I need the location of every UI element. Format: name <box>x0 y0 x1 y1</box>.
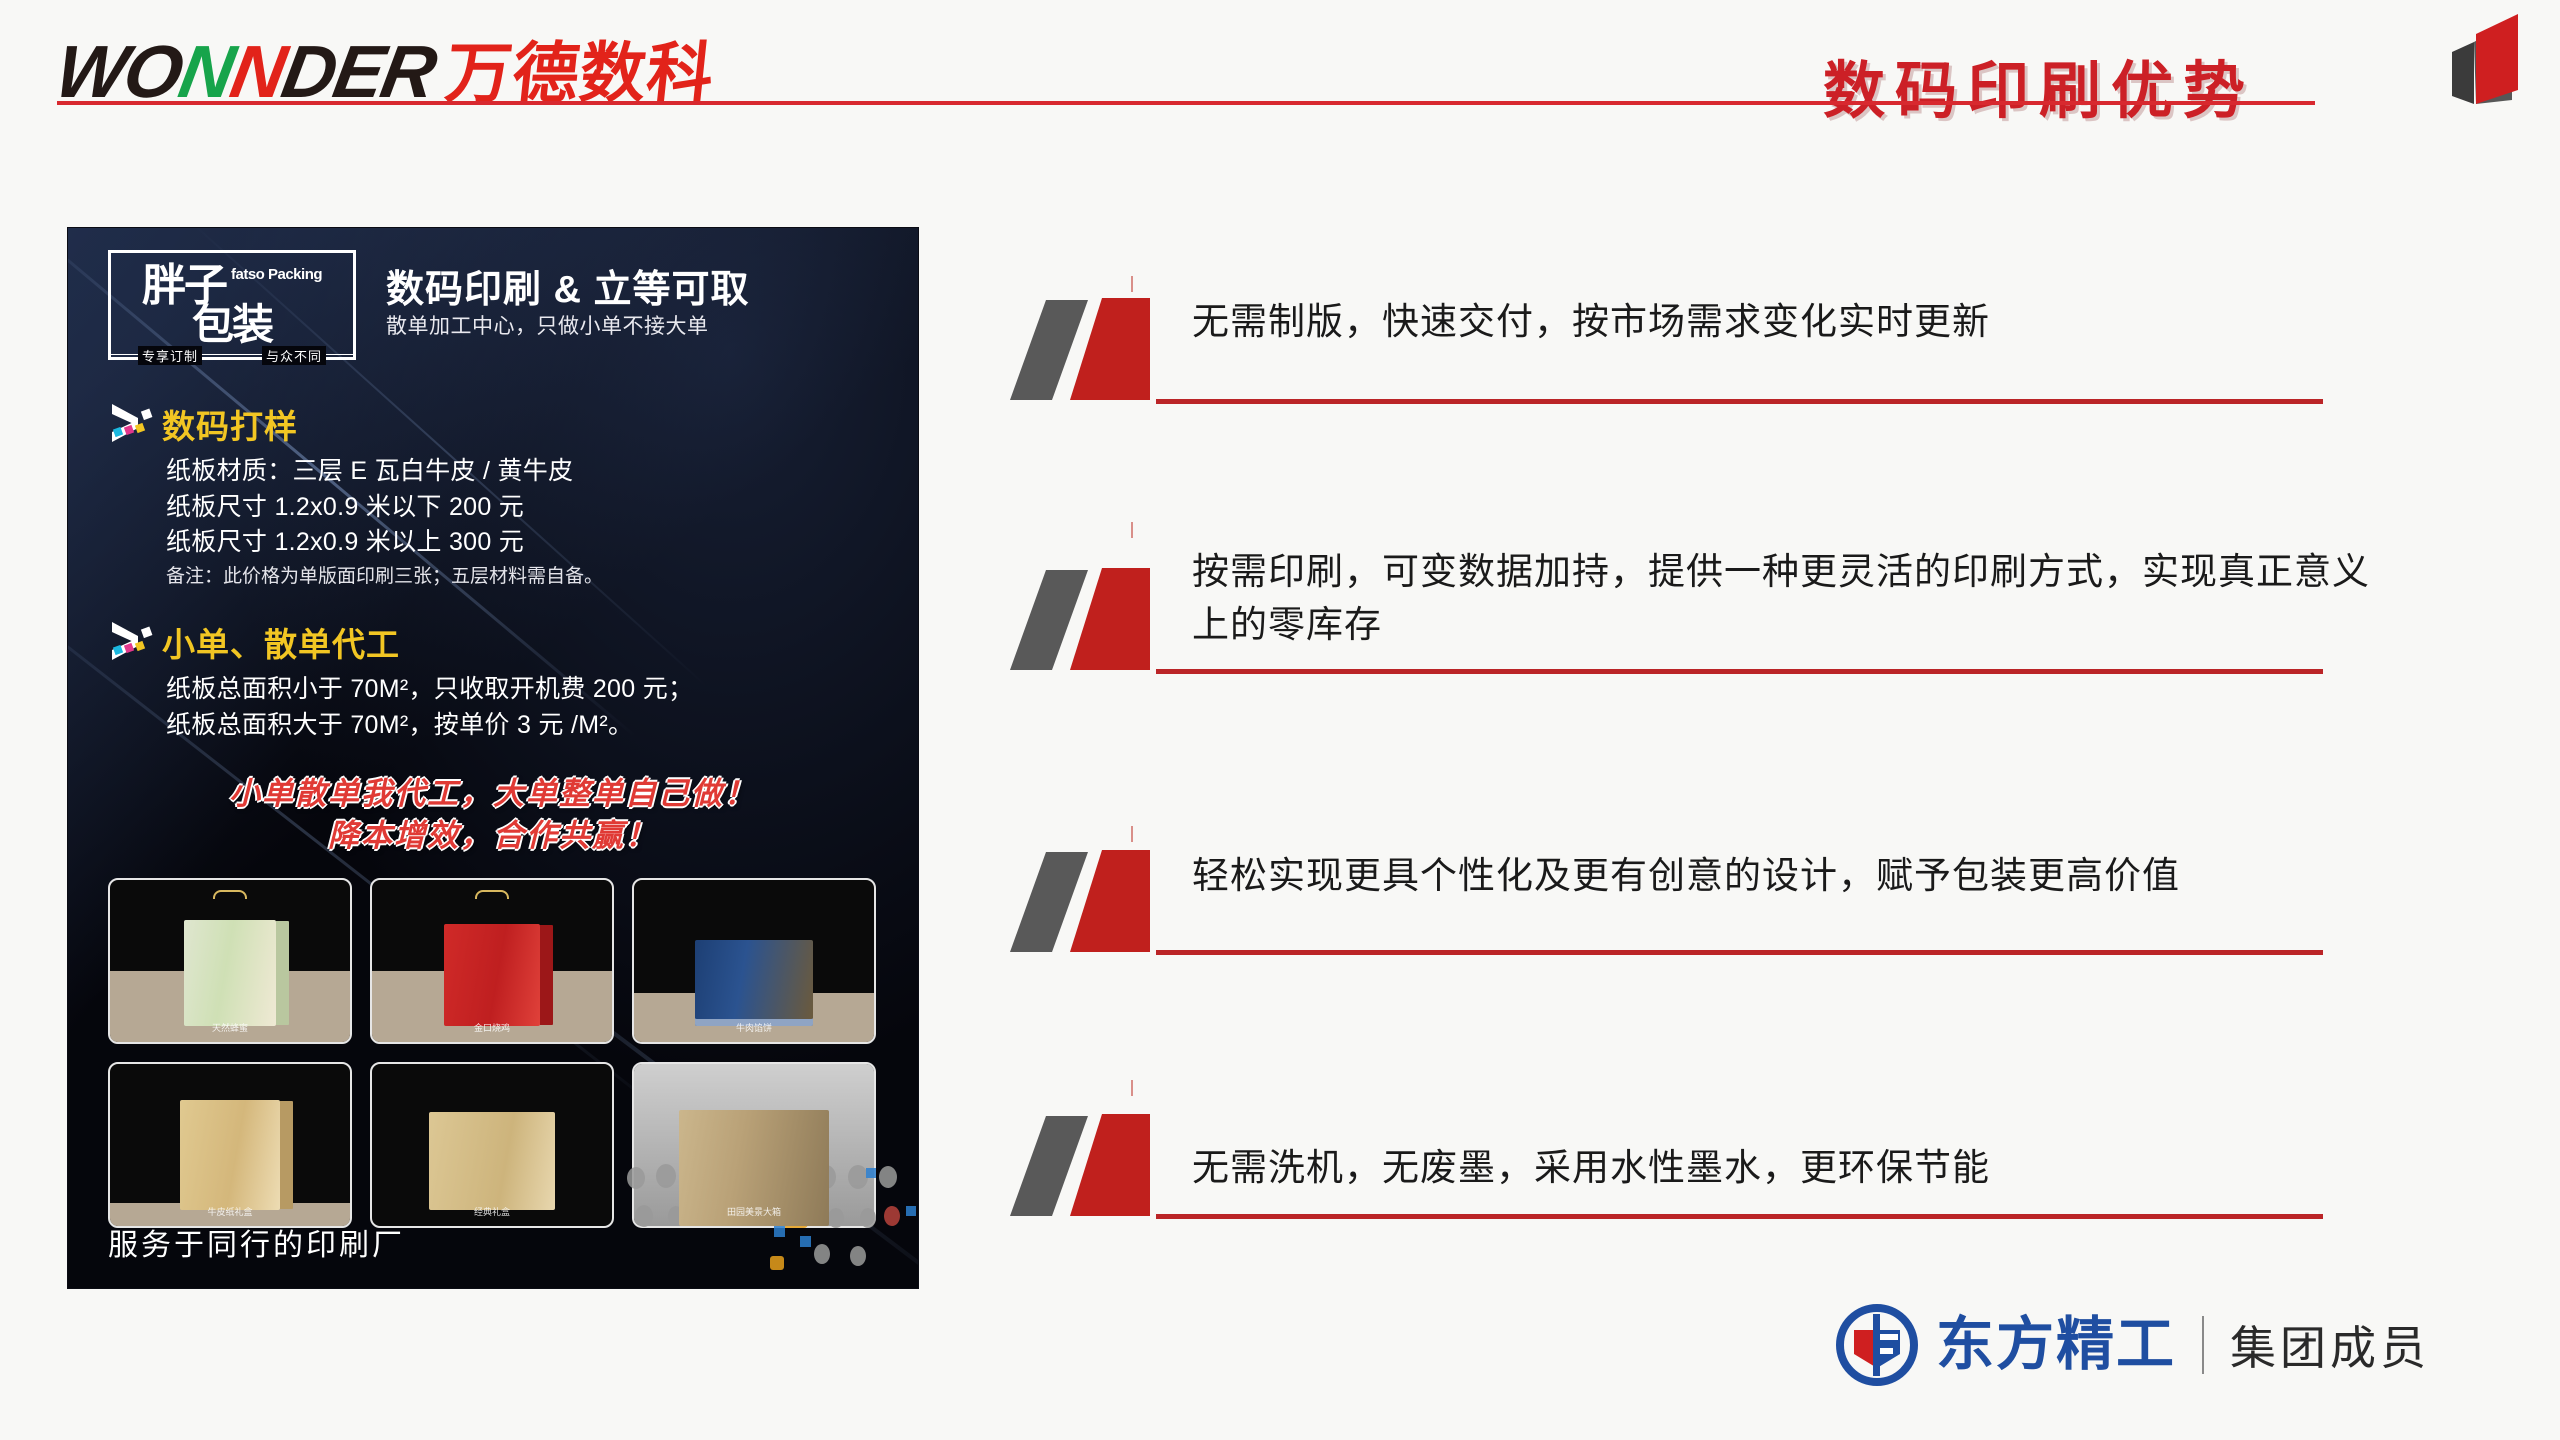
poster-slogan-line1: 小单散单我代工，大单整单自己做！ <box>68 773 918 815</box>
section-line: 纸板材质：三层 E 瓦白牛皮 / 黄牛皮 <box>166 454 898 490</box>
gallery-item: 金口烧鸡 <box>370 878 614 1044</box>
gallery-item: 天然蜂蜜 <box>108 878 352 1044</box>
fatso-logo-taglines: 专享订制 与众不同 <box>108 346 356 365</box>
bullet-underline <box>1156 399 2323 404</box>
bullet-tick-icon <box>1131 276 1133 292</box>
bullet-tick-icon <box>1131 522 1133 538</box>
double-parallelogram-marker-icon <box>1008 296 1178 408</box>
gallery-item-caption: 经典礼盒 <box>474 1205 510 1218</box>
bullet-underline <box>1156 950 2323 955</box>
poster-image: 胖子 fatso Packing 包装 专享订制 与众不同 数码印刷 & 立等可… <box>68 228 918 1288</box>
double-parallelogram-marker-icon <box>1008 1112 1178 1224</box>
gallery-item: 牛肉馅饼 <box>632 878 876 1044</box>
chevron-right-icon <box>108 620 162 664</box>
bullet-text: 轻松实现更具个性化及更有创意的设计，赋予包装更高价值 <box>1192 850 2372 903</box>
poster-headline: 数码印刷 & 立等可取 <box>386 258 886 313</box>
gallery-item-caption: 天然蜂蜜 <box>212 1021 248 1034</box>
poster-product-gallery: 天然蜂蜜 金口烧鸡 牛肉馅饼 牛皮纸礼盒 经典礼盒 <box>108 878 878 1228</box>
poster-section-digital-proofing: 数码打样 纸板材质：三层 E 瓦白牛皮 / 黄牛皮 纸板尺寸 1.2x0.9 米… <box>108 400 898 591</box>
footer-divider <box>2202 1316 2204 1374</box>
bullet-underline <box>1156 1214 2323 1219</box>
section-line: 纸板总面积大于 70M²，按单价 3 元 /M²。 <box>166 708 898 744</box>
fatso-logo-en: fatso Packing <box>231 267 322 282</box>
section-line: 纸板总面积小于 70M²，只收取开机费 200 元； <box>166 672 898 708</box>
double-parallelogram-marker-icon <box>1008 848 1178 960</box>
footer-company-name: 东方精工 <box>1936 1316 2176 1374</box>
fatso-packing-logo: 胖子 fatso Packing 包装 <box>108 250 356 360</box>
brand-logo: WONNDER 万德数科 <box>57 38 714 106</box>
gallery-item: 牛皮纸礼盒 <box>108 1062 352 1228</box>
slide-root: WONNDER 万德数科 数码印刷优势 胖子 fatso Packing 包装 … <box>0 0 2560 1440</box>
section-line: 纸板尺寸 1.2x0.9 米以下 200 元 <box>166 490 898 526</box>
gallery-item-caption: 牛皮纸礼盒 <box>207 1205 252 1218</box>
book-pages-icon <box>2430 8 2534 108</box>
gallery-item: 经典礼盒 <box>370 1062 614 1228</box>
brand-wordmark-en: WONNDER <box>51 38 440 106</box>
double-parallelogram-marker-icon <box>1008 566 1178 678</box>
gallery-item-caption: 田园美景大箱 <box>727 1205 781 1218</box>
section-line: 纸板尺寸 1.2x0.9 米以上 300 元 <box>166 525 898 561</box>
header-divider <box>57 101 2315 105</box>
section-title: 小单、散单代工 <box>162 618 400 666</box>
dongfang-shield-icon <box>1834 1302 1920 1388</box>
poster-footer-text: 服务于同行的印刷厂 <box>108 1220 405 1264</box>
section-title: 数码打样 <box>162 400 298 448</box>
bullet-text: 按需印刷，可变数据加持，提供一种更灵活的印刷方式，实现真正意义上的零库存 <box>1192 546 2372 651</box>
poster-slogan-line2: 降本增效，合作共赢！ <box>68 815 918 857</box>
gallery-item-caption: 金口烧鸡 <box>474 1021 510 1034</box>
fatso-tag-left: 专享订制 <box>138 346 202 365</box>
section-note: 备注：此价格为单版面印刷三张；五层材料需自备。 <box>166 563 898 592</box>
bullet-text: 无需制版，快速交付，按市场需求变化实时更新 <box>1192 296 2372 349</box>
fatso-logo-cn-bottom: 包装 <box>142 304 322 346</box>
poster-section-small-order-oem: 小单、散单代工 纸板总面积小于 70M²，只收取开机费 200 元； 纸板总面积… <box>108 618 898 743</box>
fatso-tag-right: 与众不同 <box>262 346 326 365</box>
gallery-item-caption: 牛肉馅饼 <box>736 1021 772 1034</box>
page-title: 数码印刷优势 <box>1823 40 2255 130</box>
poster-slogan: 小单散单我代工，大单整单自己做！ 降本增效，合作共赢！ <box>68 773 918 856</box>
poster-subheadline: 散单加工中心，只做小单不接大单 <box>386 310 886 340</box>
footer-group-branding: 东方精工 集团成员 <box>1834 1302 2430 1388</box>
brand-wordmark-cn: 万德数科 <box>442 40 717 106</box>
bullet-underline <box>1156 669 2323 674</box>
bullet-tick-icon <box>1131 826 1133 842</box>
chevron-right-icon <box>108 402 162 446</box>
bullet-tick-icon <box>1131 1080 1133 1096</box>
bullet-text: 无需洗机，无废墨，采用水性墨水，更环保节能 <box>1192 1142 2372 1195</box>
footer-member-label: 集团成员 <box>2230 1312 2430 1378</box>
